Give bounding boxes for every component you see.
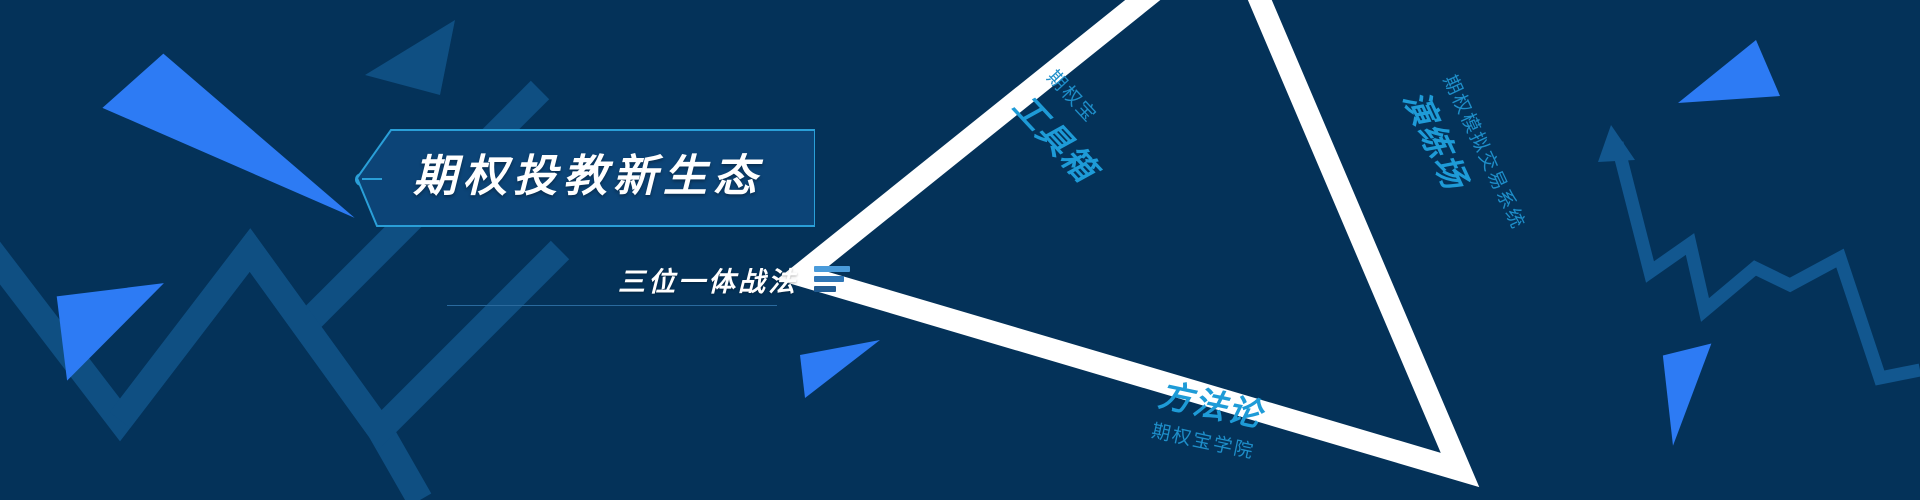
subtitle-text: 三位一体战法 bbox=[618, 260, 798, 299]
subtitle-row: 三位一体战法 bbox=[520, 257, 850, 301]
subtitle-underline bbox=[447, 305, 777, 306]
banner-connector bbox=[362, 176, 382, 182]
title-banner: 期权投教新生态 bbox=[355, 128, 815, 228]
page-title: 期权投教新生态 bbox=[413, 144, 793, 210]
triangle-diagram bbox=[0, 0, 1920, 500]
banner-canvas: 期权投教新生态 三位一体战法 期权宝 工具箱 期权模拟交易系统 演练场 方法论 … bbox=[0, 0, 1920, 500]
three-bars-icon bbox=[814, 266, 850, 292]
